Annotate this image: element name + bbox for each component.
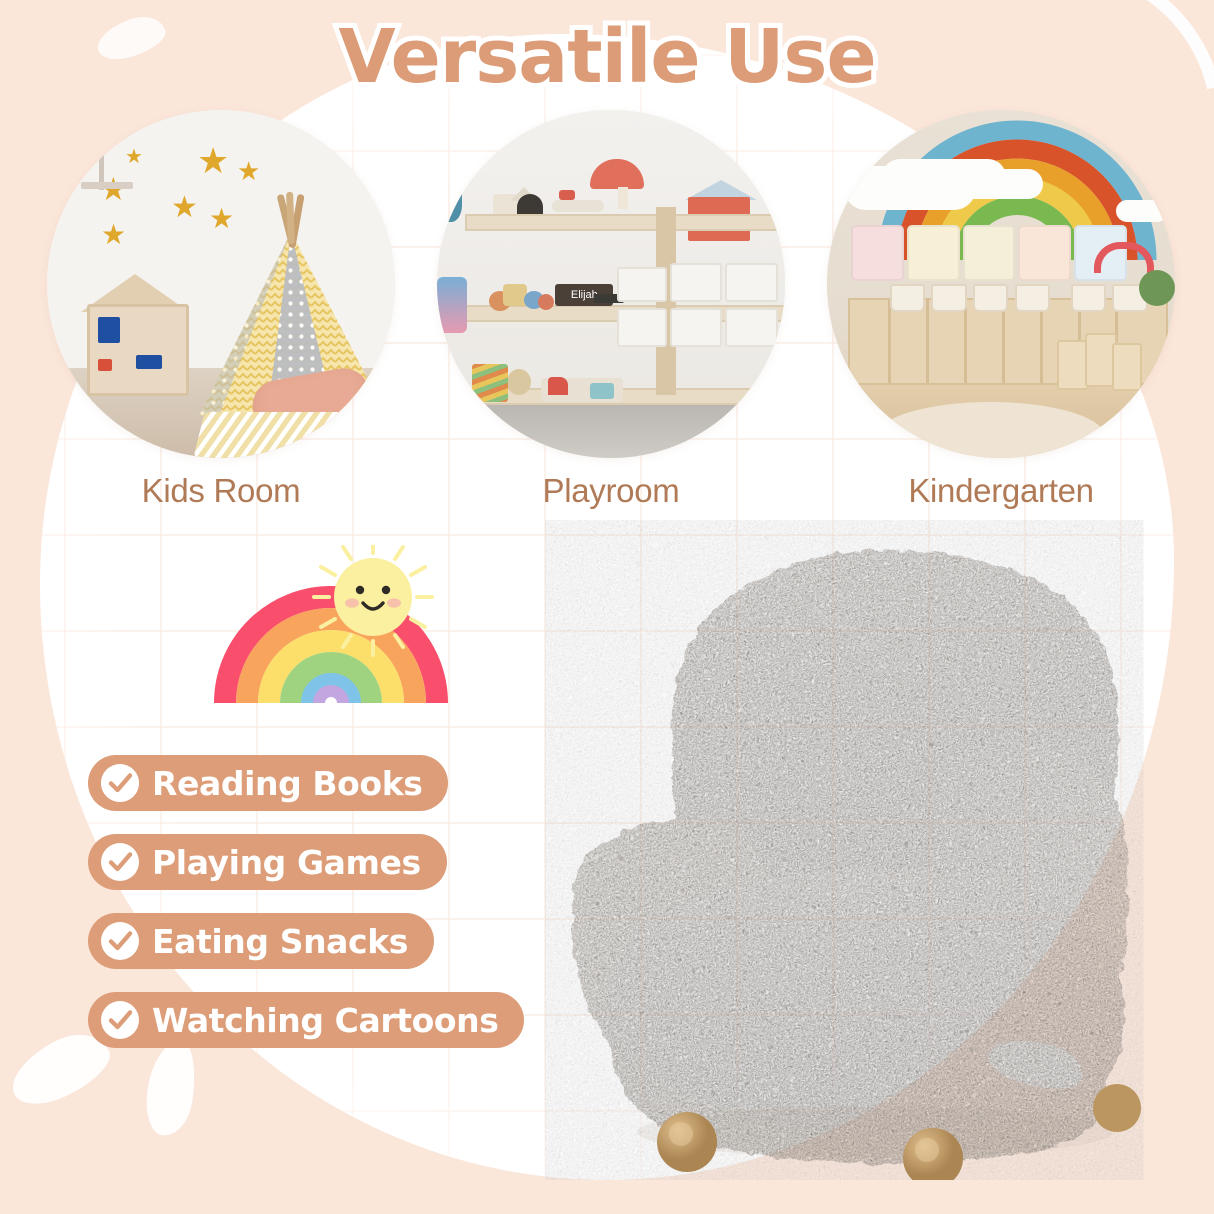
scene-card-kindergarten: Kindergarten bbox=[827, 110, 1175, 510]
scene-photo-kids-room: ★ ★ ★ ★ ★ ★ ★ bbox=[47, 110, 395, 458]
scene-label-playroom: Playroom bbox=[437, 472, 785, 510]
feature-label: Watching Cartoons bbox=[152, 1004, 498, 1037]
check-circle-icon bbox=[100, 921, 140, 961]
scene-photo-playroom: Elijah bbox=[437, 110, 785, 458]
check-circle-icon bbox=[100, 842, 140, 882]
rainbow-sun-icon bbox=[213, 545, 449, 705]
check-circle-icon bbox=[100, 1000, 140, 1040]
product-image-armchair bbox=[545, 520, 1165, 1180]
scene-label-kids-room: Kids Room bbox=[47, 472, 395, 510]
check-circle-icon bbox=[100, 763, 140, 803]
feature-label: Playing Games bbox=[152, 846, 421, 879]
infographic-canvas: Versatile Use ★ ★ ★ ★ ★ ★ ★ bbox=[0, 0, 1214, 1214]
scene-card-kids-room: ★ ★ ★ ★ ★ ★ ★ bbox=[47, 110, 395, 510]
scene-card-playroom: Elijah bbox=[437, 110, 785, 510]
scene-circles-row: ★ ★ ★ ★ ★ ★ ★ bbox=[0, 110, 1214, 530]
feature-pill[interactable]: Watching Cartoons bbox=[88, 992, 524, 1048]
page-title: Versatile Use bbox=[0, 14, 1214, 100]
feature-label: Reading Books bbox=[152, 767, 422, 800]
feature-pill[interactable]: Playing Games bbox=[88, 834, 447, 890]
feature-pill[interactable]: Eating Snacks bbox=[88, 913, 434, 969]
feature-label: Eating Snacks bbox=[152, 925, 408, 958]
scene-photo-kindergarten bbox=[827, 110, 1175, 458]
scene-label-kindergarten: Kindergarten bbox=[827, 472, 1175, 510]
feature-pill[interactable]: Reading Books bbox=[88, 755, 448, 811]
feature-list: Reading Books Playing Games Eating Snack… bbox=[88, 755, 524, 1071]
